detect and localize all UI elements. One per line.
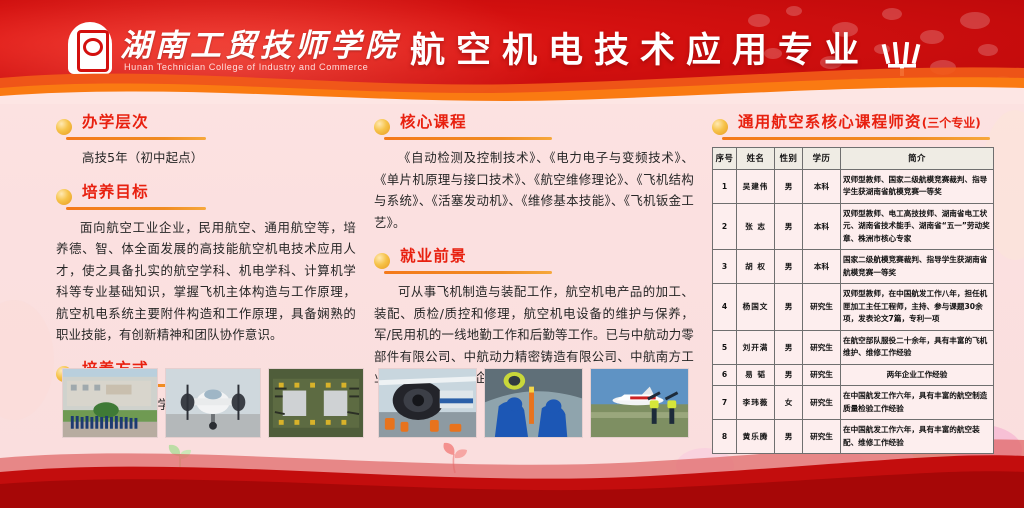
section-body-goal: 面向航空工业企业，民用航空、通用航空等，培养德、智、体全面发展的高技能航空机电技… <box>56 217 356 346</box>
cell-no: 8 <box>713 420 737 454</box>
table-row: 7李玮薇女研究生在中国航发工作六年，具有丰富的航空制造质量检验工作经验 <box>713 386 994 420</box>
table-row: 8黄乐腾男研究生在中国航发工作六年，具有丰富的航空装配、维修工作经验 <box>713 420 994 454</box>
section-underline <box>722 137 990 140</box>
gold-bullet-icon <box>56 119 72 135</box>
cell-no: 2 <box>713 203 737 250</box>
section-underline <box>66 137 206 140</box>
decor-blob-cream-2 <box>0 300 54 420</box>
section-title: 培养目标 <box>82 183 149 201</box>
cell-desc: 双师型教师，在中国航发工作八年，担任机匣加工主任工程师，主持、参与课题30余项，… <box>841 284 994 331</box>
mid-column: 核心课程 《自动检测及控制技术》、《电力电子与变频技术》、《单片机原理与接口技术… <box>374 112 694 389</box>
cell-sex: 男 <box>775 284 803 331</box>
cell-no: 7 <box>713 386 737 420</box>
section-underline <box>66 207 206 210</box>
table-row: 5刘开满男研究生在航空部队服役二十余年，具有丰富的飞机维护、维修工作经验 <box>713 330 994 364</box>
col-header-name: 姓名 <box>737 148 775 170</box>
cell-desc: 双师型教师、电工高技技师、湖南省电工状元、湖南省技术能手、湖南省“五一”劳动奖章… <box>841 203 994 250</box>
section-title: 通用航空系核心课程师资(三个专业) <box>738 113 981 131</box>
cell-sex: 男 <box>775 250 803 284</box>
cell-no: 5 <box>713 330 737 364</box>
cell-edu: 本科 <box>803 250 841 284</box>
cell-no: 4 <box>713 284 737 331</box>
cell-name: 张 志 <box>737 203 775 250</box>
cell-desc: 两年企业工作经验 <box>841 364 994 386</box>
cell-edu: 研究生 <box>803 284 841 331</box>
table-row: 2张 志男本科双师型教师、电工高技技师、湖南省电工状元、湖南省技术能手、湖南省“… <box>713 203 994 250</box>
gold-bullet-icon <box>374 119 390 135</box>
twin-propeller-aircraft-photo <box>165 368 261 438</box>
section-title: 核心课程 <box>400 113 467 131</box>
section-title: 就业前景 <box>400 247 467 265</box>
cell-sex: 男 <box>775 420 803 454</box>
faculty-title-main: 通用航空系核心课程师资 <box>738 113 922 131</box>
col-header-sex: 性别 <box>775 148 803 170</box>
col-header-edu: 学历 <box>803 148 841 170</box>
cell-sex: 男 <box>775 203 803 250</box>
section-body-level: 高技5年（初中起点） <box>56 147 356 169</box>
cell-edu: 本科 <box>803 169 841 203</box>
gold-bullet-icon <box>374 253 390 269</box>
poster-canvas: 湖南工贸技师学院 Hunan Technician College of Ind… <box>0 0 1024 508</box>
jet-engine-maintenance-photo <box>378 368 477 438</box>
section-header-employment: 就业前景 <box>374 246 694 274</box>
cell-no: 6 <box>713 364 737 386</box>
technicians-blue-uniform-photo <box>484 368 583 438</box>
section-underline <box>384 137 552 140</box>
cell-sex: 男 <box>775 330 803 364</box>
gold-bullet-icon <box>712 119 728 135</box>
table-header-row: 序号 姓名 性别 学历 简介 <box>713 148 994 170</box>
poster-header: 湖南工贸技师学院 Hunan Technician College of Ind… <box>0 0 1024 104</box>
cell-name: 胡 权 <box>737 250 775 284</box>
ground-crew-marshalling-photo <box>590 368 689 438</box>
right-column: 通用航空系核心课程师资(三个专业) 序号 姓名 性别 学历 简介 1吴建伟男本科… <box>712 112 994 454</box>
cell-desc: 在航空部队服役二十余年，具有丰富的飞机维护、维修工作经验 <box>841 330 994 364</box>
cell-edu: 研究生 <box>803 330 841 364</box>
cell-desc: 在中国航发工作六年，具有丰富的航空装配、维修工作经验 <box>841 420 994 454</box>
cell-sex: 女 <box>775 386 803 420</box>
faculty-table: 序号 姓名 性别 学历 简介 1吴建伟男本科双师型教师、国家二级航模竞赛裁判、指… <box>712 147 994 454</box>
mid-photo-row <box>378 368 689 438</box>
section-body-core-courses: 《自动检测及控制技术》、《电力电子与变频技术》、《单片机原理与接口技术》、《航空… <box>374 147 694 233</box>
col-header-no: 序号 <box>713 148 737 170</box>
cell-name: 李玮薇 <box>737 386 775 420</box>
cell-name: 杨国文 <box>737 284 775 331</box>
cell-name: 刘开满 <box>737 330 775 364</box>
cell-name: 吴建伟 <box>737 169 775 203</box>
cell-no: 1 <box>713 169 737 203</box>
campus-building-students-photo <box>62 368 158 438</box>
faculty-title-suffix: (三个专业) <box>922 116 981 130</box>
cell-desc: 双师型教师、国家二级航模竞赛裁判、指导学生获湖南省航模竞赛一等奖 <box>841 169 994 203</box>
cell-no: 3 <box>713 250 737 284</box>
section-header-goal: 培养目标 <box>56 182 356 210</box>
cell-name: 易 韬 <box>737 364 775 386</box>
cell-name: 黄乐腾 <box>737 420 775 454</box>
section-underline <box>384 271 552 274</box>
table-row: 4杨国文男研究生双师型教师，在中国航发工作八年，担任机匣加工主任工程师，主持、参… <box>713 284 994 331</box>
left-photo-row <box>62 368 364 438</box>
cell-edu: 研究生 <box>803 386 841 420</box>
col-header-desc: 简介 <box>841 148 994 170</box>
section-header-faculty: 通用航空系核心课程师资(三个专业) <box>712 112 994 140</box>
section-header-core-courses: 核心课程 <box>374 112 694 140</box>
table-row: 3胡 权男本科国家二级航模竞赛裁判、指导学生获湖南省航模竞赛一等奖 <box>713 250 994 284</box>
header-orange-wave <box>0 58 1024 104</box>
cell-edu: 研究生 <box>803 420 841 454</box>
table-row: 1吴建伟男本科双师型教师、国家二级航模竞赛裁判、指导学生获湖南省航模竞赛一等奖 <box>713 169 994 203</box>
section-header-level: 办学层次 <box>56 112 356 140</box>
electrical-wiring-panel-photo <box>268 368 364 438</box>
gold-bullet-icon <box>56 189 72 205</box>
cell-edu: 研究生 <box>803 364 841 386</box>
section-title: 办学层次 <box>82 113 149 131</box>
cell-edu: 本科 <box>803 203 841 250</box>
cell-desc: 国家二级航模竞赛裁判、指导学生获湖南省航模竞赛一等奖 <box>841 250 994 284</box>
cell-desc: 在中国航发工作六年，具有丰富的航空制造质量检验工作经验 <box>841 386 994 420</box>
cell-sex: 男 <box>775 364 803 386</box>
cell-sex: 男 <box>775 169 803 203</box>
table-row: 6易 韬男研究生两年企业工作经验 <box>713 364 994 386</box>
